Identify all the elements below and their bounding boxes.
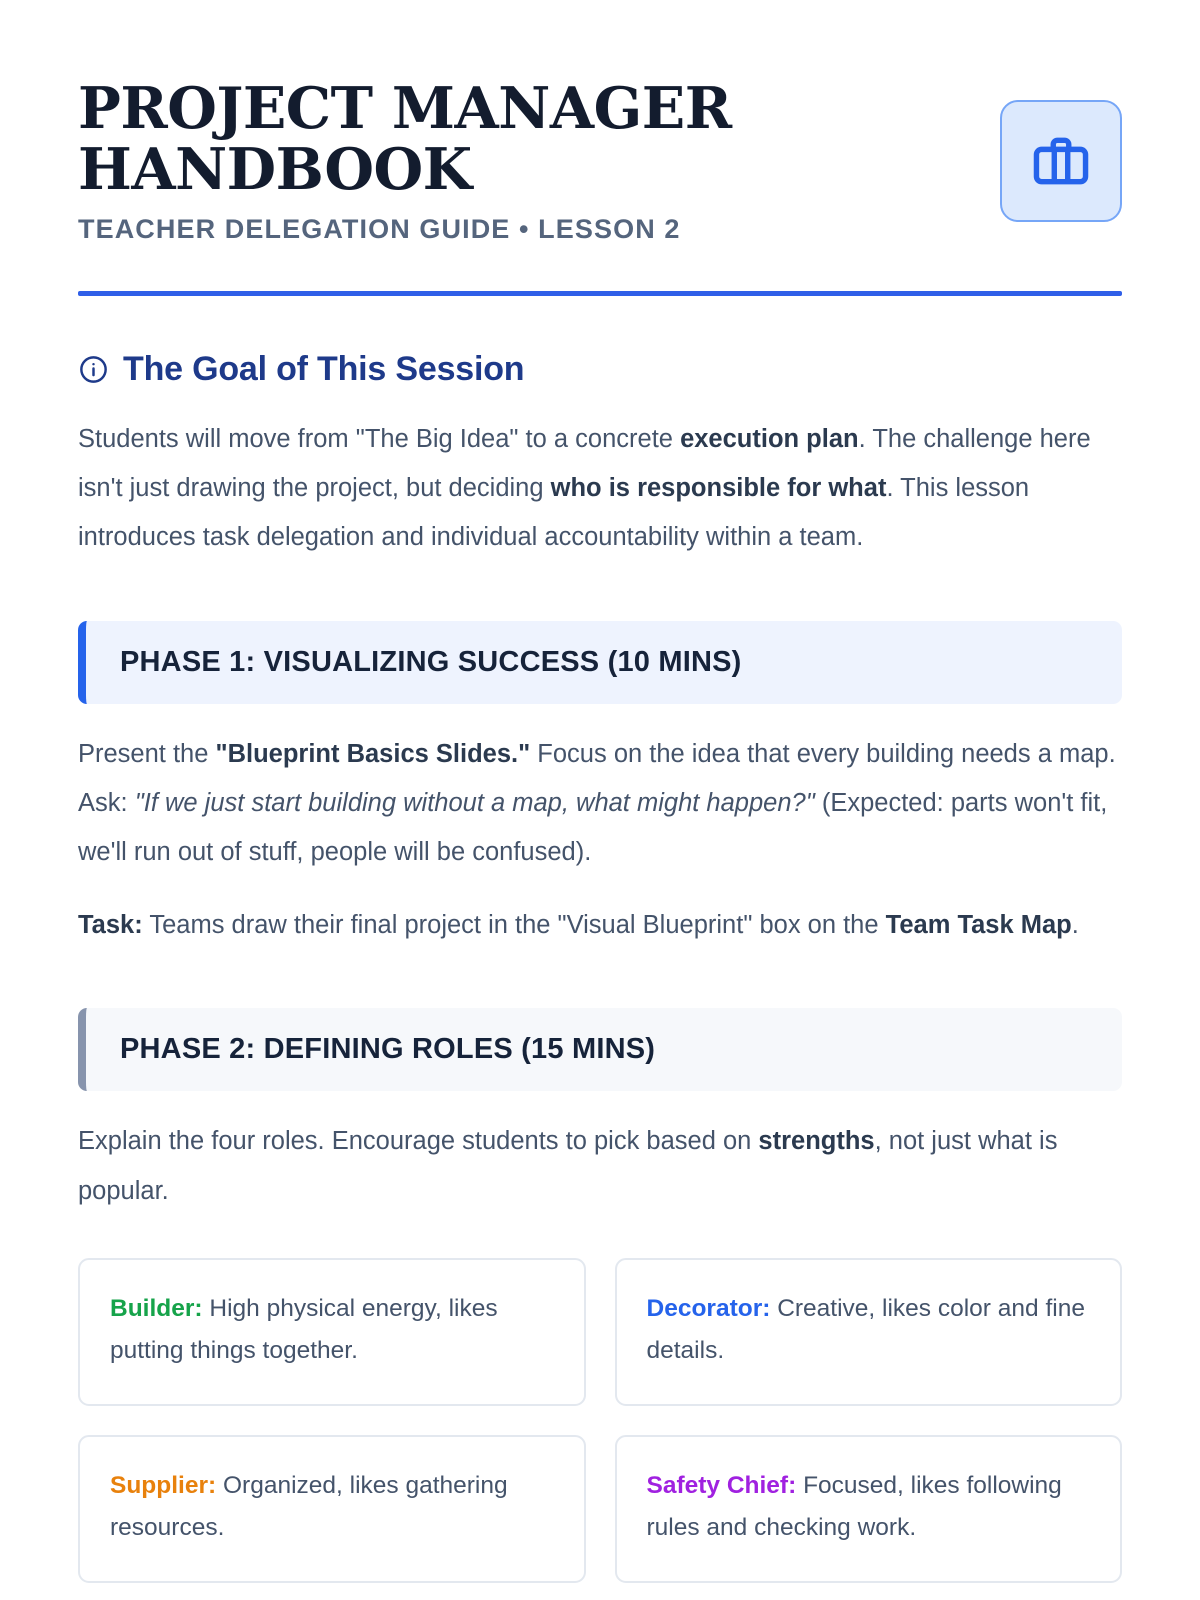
page-subtitle: TEACHER DELEGATION GUIDE • LESSON 2 [78,214,978,245]
phase-1-paragraph: Present the "Blueprint Basics Slides." F… [78,730,1122,878]
phase-1-banner: PHASE 1: VISUALIZING SUCCESS (10 MINS) [78,621,1122,704]
task-text-2: . [1072,911,1079,939]
role-card-safety-chief: Safety Chief: Focused, likes following r… [615,1435,1123,1583]
role-name-supplier: Supplier: [110,1472,216,1499]
task-text-1: Teams draw their final project in the "V… [143,911,886,939]
phase1-italic-1: "If we just start building without a map… [135,789,815,817]
role-card-builder: Builder: High physical energy, likes put… [78,1258,586,1406]
goal-paragraph: Students will move from "The Big Idea" t… [78,415,1122,563]
role-card-text: Safety Chief: Focused, likes following r… [647,1465,1095,1549]
goal-text-1: Students will move from "The Big Idea" t… [78,425,680,453]
role-card-grid: Builder: High physical energy, likes put… [78,1258,1122,1583]
task-bold-1: Team Task Map [886,911,1072,939]
goal-bold-2: who is responsible for what [551,474,887,502]
role-name-builder: Builder: [110,1295,203,1322]
briefcase-badge [1000,100,1122,222]
phase-1-task-paragraph: Task: Teams draw their final project in … [78,901,1122,950]
header-text-block: PROJECT MANAGER HANDBOOK TEACHER DELEGAT… [78,78,978,245]
info-circle-icon [78,354,109,385]
role-card-text: Decorator: Creative, likes color and fin… [647,1288,1095,1372]
role-card-supplier: Supplier: Organized, likes gathering res… [78,1435,586,1583]
role-card-decorator: Decorator: Creative, likes color and fin… [615,1258,1123,1406]
document-page: PROJECT MANAGER HANDBOOK TEACHER DELEGAT… [0,0,1200,1600]
phase-1-title: PHASE 1: VISUALIZING SUCCESS (10 MINS) [120,646,742,679]
phase-2-banner: PHASE 2: DEFINING ROLES (15 MINS) [78,1008,1122,1091]
goal-heading-text: The Goal of This Session [123,350,524,389]
phase1-text-1: Present the [78,740,216,768]
page-title: PROJECT MANAGER HANDBOOK [78,78,978,200]
phase2-bold-1: strengths [758,1127,874,1155]
phase2-text-1: Explain the four roles. Encourage studen… [78,1127,758,1155]
header-divider [78,291,1122,296]
phase-2-title: PHASE 2: DEFINING ROLES (15 MINS) [120,1033,655,1066]
task-label: Task: [78,911,143,939]
document-header: PROJECT MANAGER HANDBOOK TEACHER DELEGAT… [78,78,1122,245]
role-name-safety-chief: Safety Chief: [647,1472,797,1499]
phase1-bold-1: "Blueprint Basics Slides." [216,740,531,768]
goal-section-heading: The Goal of This Session [78,350,1122,389]
role-card-text: Builder: High physical energy, likes put… [110,1288,558,1372]
role-name-decorator: Decorator: [647,1295,771,1322]
goal-bold-1: execution plan [680,425,859,453]
phase-2-paragraph: Explain the four roles. Encourage studen… [78,1117,1122,1215]
role-card-text: Supplier: Organized, likes gathering res… [110,1465,558,1549]
briefcase-icon [1030,130,1092,192]
